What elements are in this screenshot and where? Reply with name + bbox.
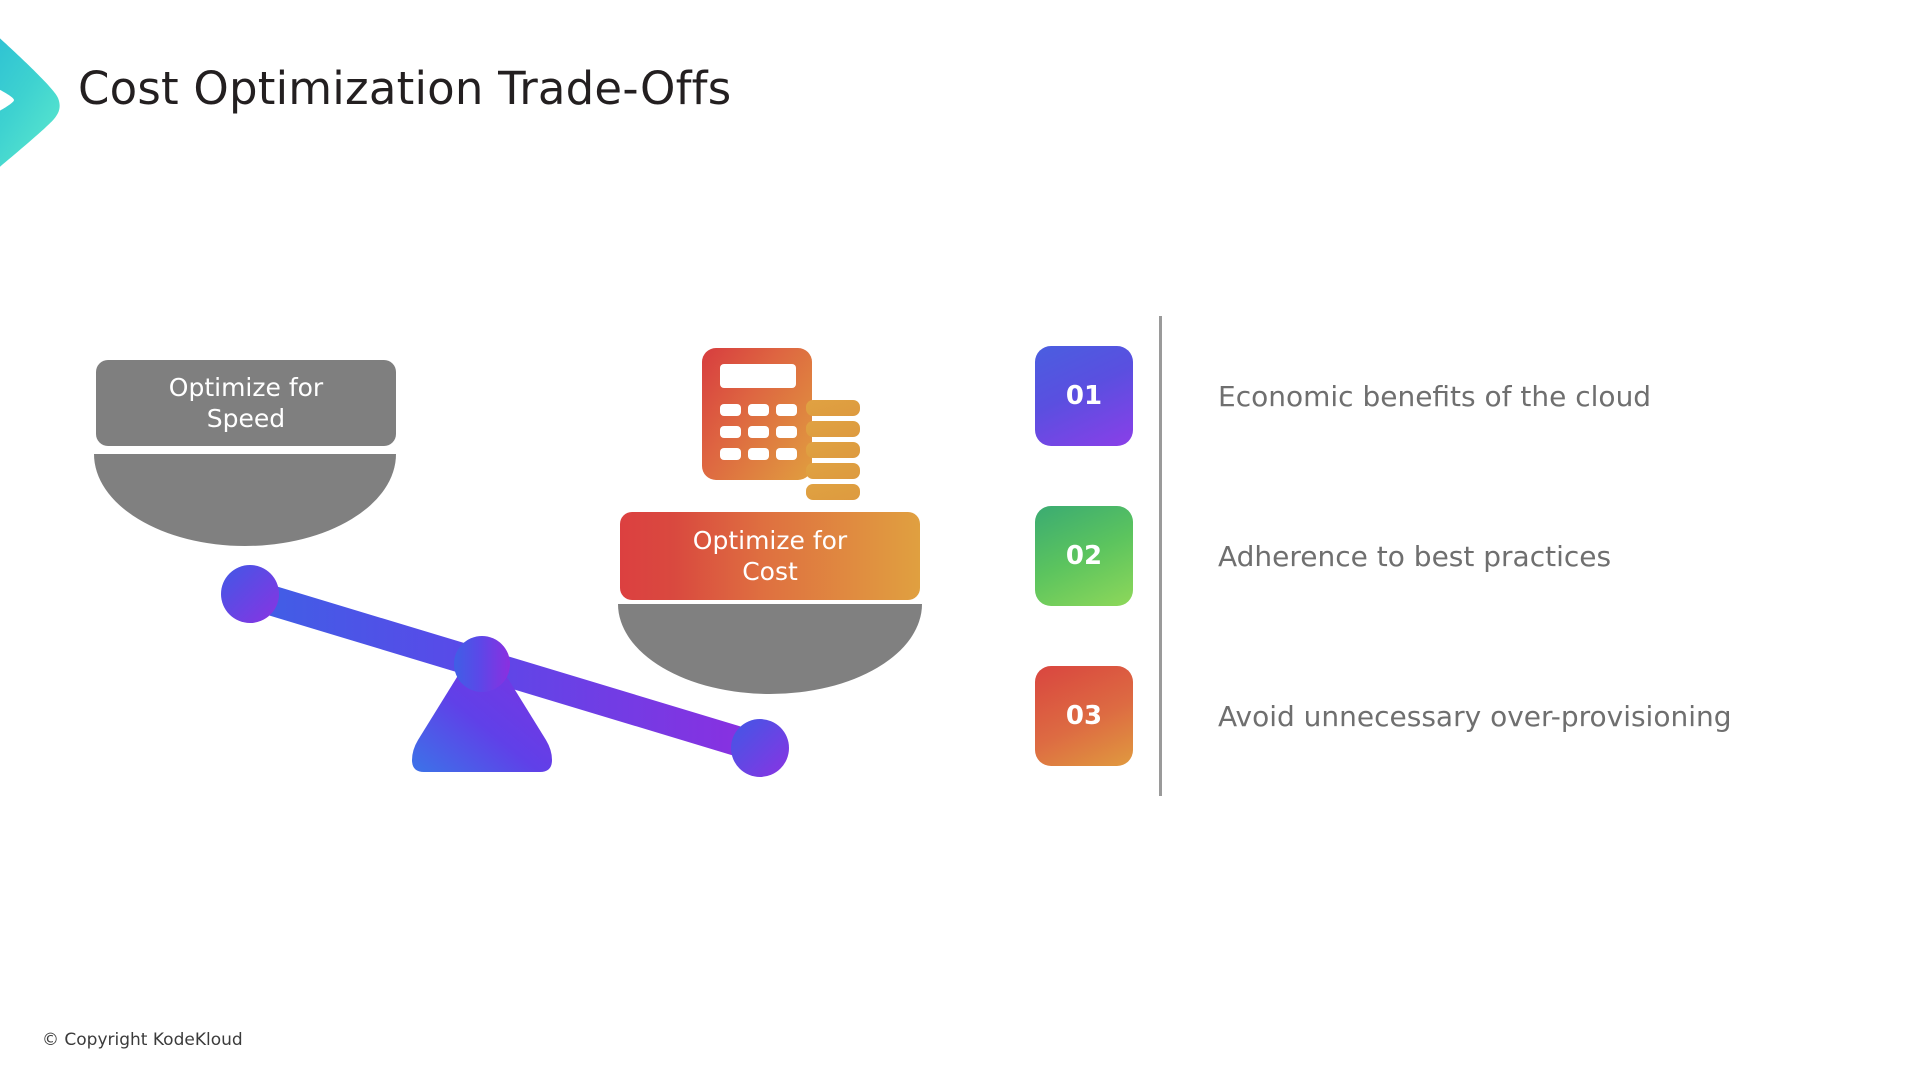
scale-pivot-knob bbox=[454, 636, 510, 692]
calculator-with-coins-icon bbox=[694, 342, 894, 502]
point-badge-01: 01 bbox=[1035, 346, 1133, 446]
chevron-right-icon bbox=[0, 24, 66, 180]
list-item[interactable]: 02 Adherence to best practices bbox=[1035, 476, 1875, 636]
point-badge-02: 02 bbox=[1035, 506, 1133, 606]
list-item[interactable]: 01 Economic benefits of the cloud bbox=[1035, 316, 1875, 476]
page-title: Cost Optimization Trade-Offs bbox=[78, 62, 731, 115]
right-pan-label: Optimize for Cost bbox=[620, 512, 920, 600]
scale-right-knob bbox=[731, 719, 789, 777]
point-divider bbox=[1159, 636, 1162, 796]
balance-scale-illustration: Optimize for Speed Optimize for Cost bbox=[60, 330, 960, 890]
point-divider bbox=[1159, 476, 1162, 636]
point-badge-03: 03 bbox=[1035, 666, 1133, 766]
point-text-03: Avoid unnecessary over-provisioning bbox=[1218, 700, 1732, 733]
point-text-02: Adherence to best practices bbox=[1218, 540, 1611, 573]
list-item[interactable]: 03 Avoid unnecessary over-provisioning bbox=[1035, 636, 1875, 796]
footer-copyright: © Copyright KodeKloud bbox=[42, 1030, 243, 1050]
left-pan-label-line1: Optimize for bbox=[169, 373, 323, 402]
point-text-01: Economic benefits of the cloud bbox=[1218, 380, 1651, 413]
key-points-list: 01 Economic benefits of the cloud 02 Adh… bbox=[1035, 316, 1875, 796]
point-divider bbox=[1159, 316, 1162, 476]
right-pan-label-line2: Cost bbox=[742, 557, 798, 586]
left-pan-label: Optimize for Speed bbox=[96, 360, 396, 446]
right-pan-label-line1: Optimize for bbox=[693, 526, 847, 555]
left-pan-label-line2: Speed bbox=[207, 404, 285, 433]
scale-left-knob bbox=[221, 565, 279, 623]
